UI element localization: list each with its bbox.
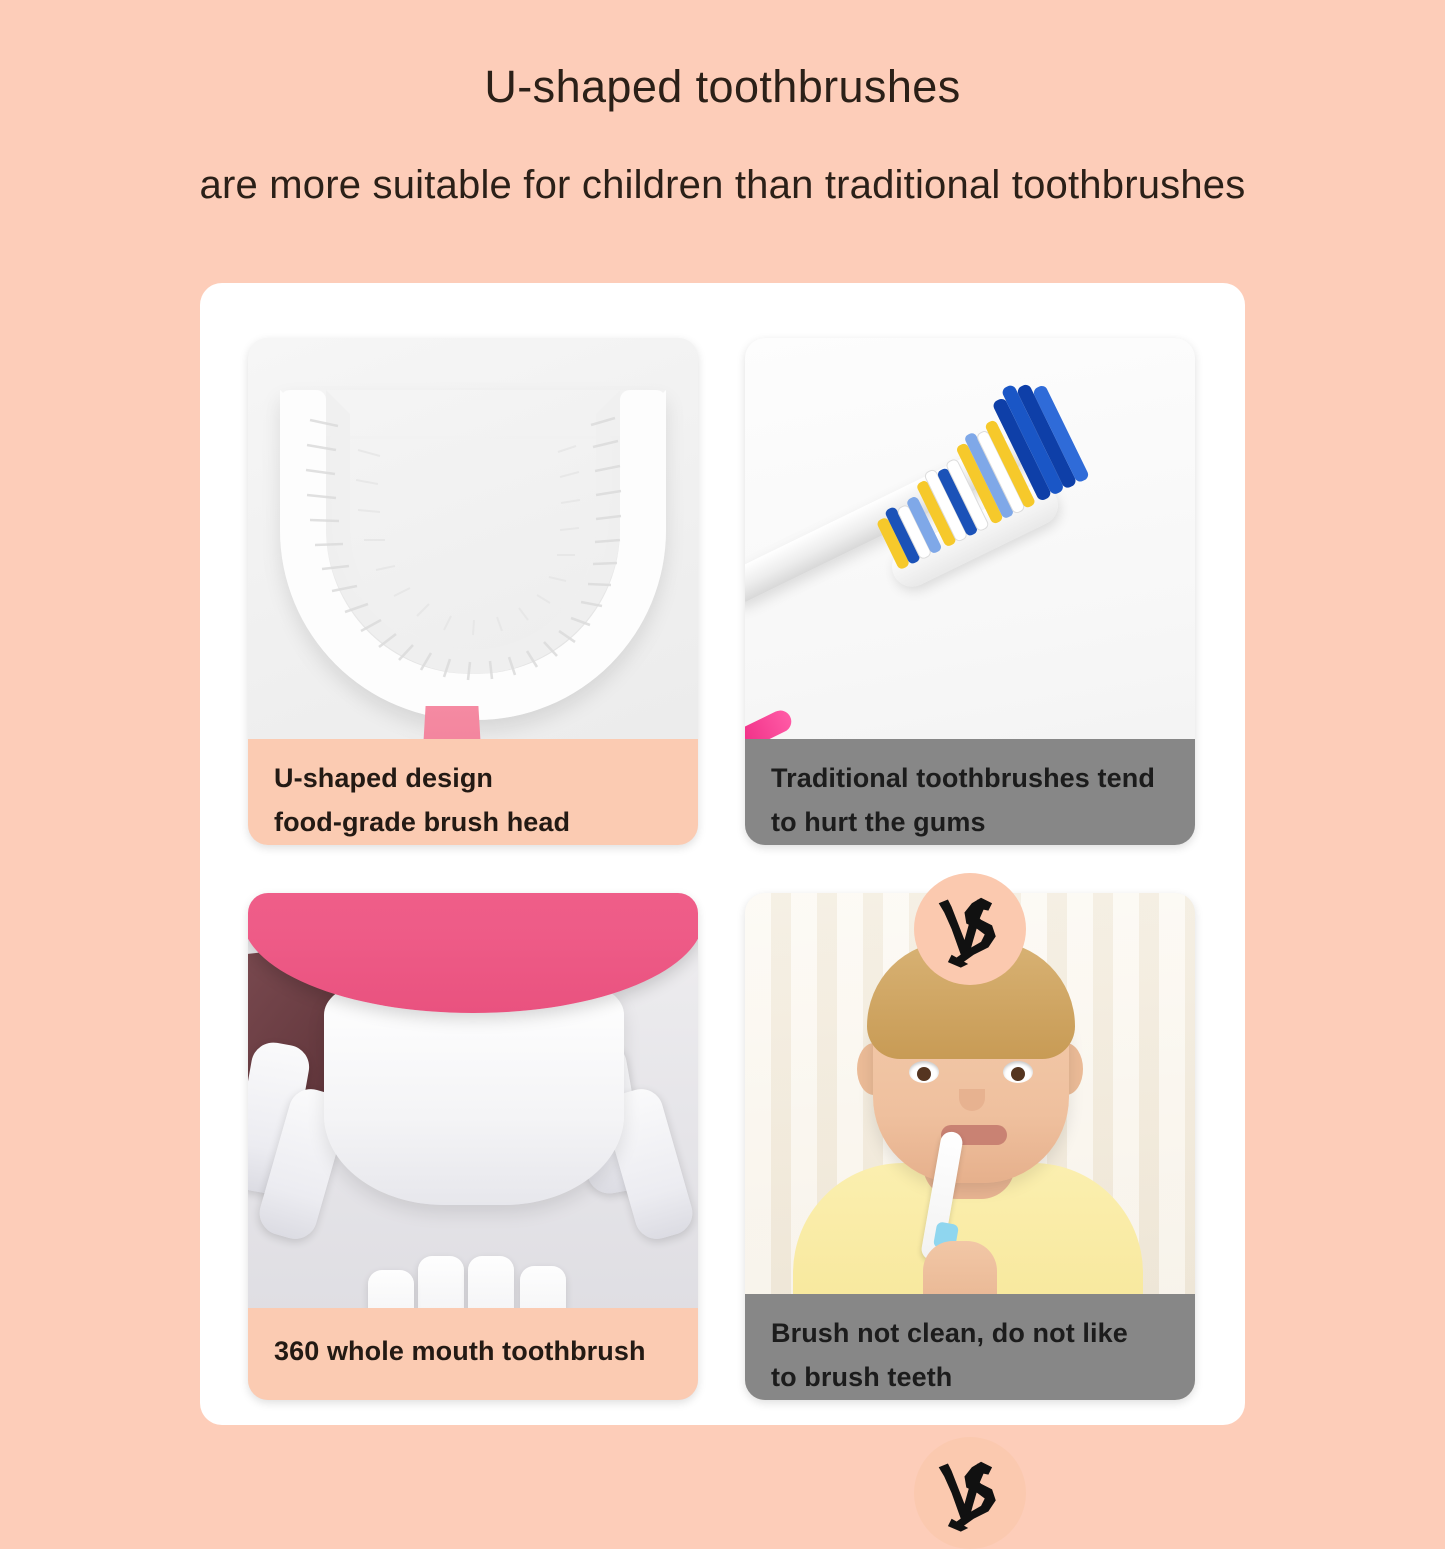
vs-icon <box>924 1447 1016 1539</box>
bristle-texture-icon <box>280 390 666 720</box>
bristle-tufts-icon <box>745 338 1195 758</box>
u-shaped-brush-graphic <box>280 390 666 720</box>
caption-line: to hurt the gums <box>771 801 1169 845</box>
vs-badge-bottom <box>914 1437 1026 1549</box>
caption-line: Brush not clean, do not like <box>771 1312 1169 1356</box>
caption-line: 360 whole mouth toothbrush <box>274 1330 672 1374</box>
comparison-grid: U-shaped design food-grade brush head <box>248 338 1195 1400</box>
vs-badge-top <box>914 873 1026 985</box>
caption-line: U-shaped design <box>274 757 672 801</box>
caption-traditional-toothbrush: Traditional toothbrushes tend to hurt th… <box>745 739 1195 845</box>
panel-traditional-toothbrush[interactable]: Traditional toothbrushes tend to hurt th… <box>745 338 1195 845</box>
traditional-toothbrush-graphic <box>745 338 1195 758</box>
panel-360-whole-mouth[interactable]: 360 whole mouth toothbrush <box>248 893 698 1400</box>
caption-line: to brush teeth <box>771 1356 1169 1400</box>
caption-child-brushing: Brush not clean, do not like to brush te… <box>745 1294 1195 1400</box>
caption-u-shaped-brush-head: U-shaped design food-grade brush head <box>248 739 698 845</box>
caption-360-whole-mouth: 360 whole mouth toothbrush <box>248 1308 698 1400</box>
brush-head-macro <box>324 985 624 1205</box>
caption-line: Traditional toothbrushes tend <box>771 757 1169 801</box>
page-title: U-shaped toothbrushes <box>484 64 960 109</box>
page-subtitle: are more suitable for children than trad… <box>200 165 1246 205</box>
content-card: U-shaped design food-grade brush head <box>200 283 1245 1425</box>
vs-icon <box>924 883 1016 975</box>
panel-u-shaped-brush-head[interactable]: U-shaped design food-grade brush head <box>248 338 698 845</box>
header: U-shaped toothbrushes are more suitable … <box>0 0 1445 283</box>
caption-line: food-grade brush head <box>274 801 672 845</box>
infographic-page: U-shaped toothbrushes are more suitable … <box>0 0 1445 1445</box>
